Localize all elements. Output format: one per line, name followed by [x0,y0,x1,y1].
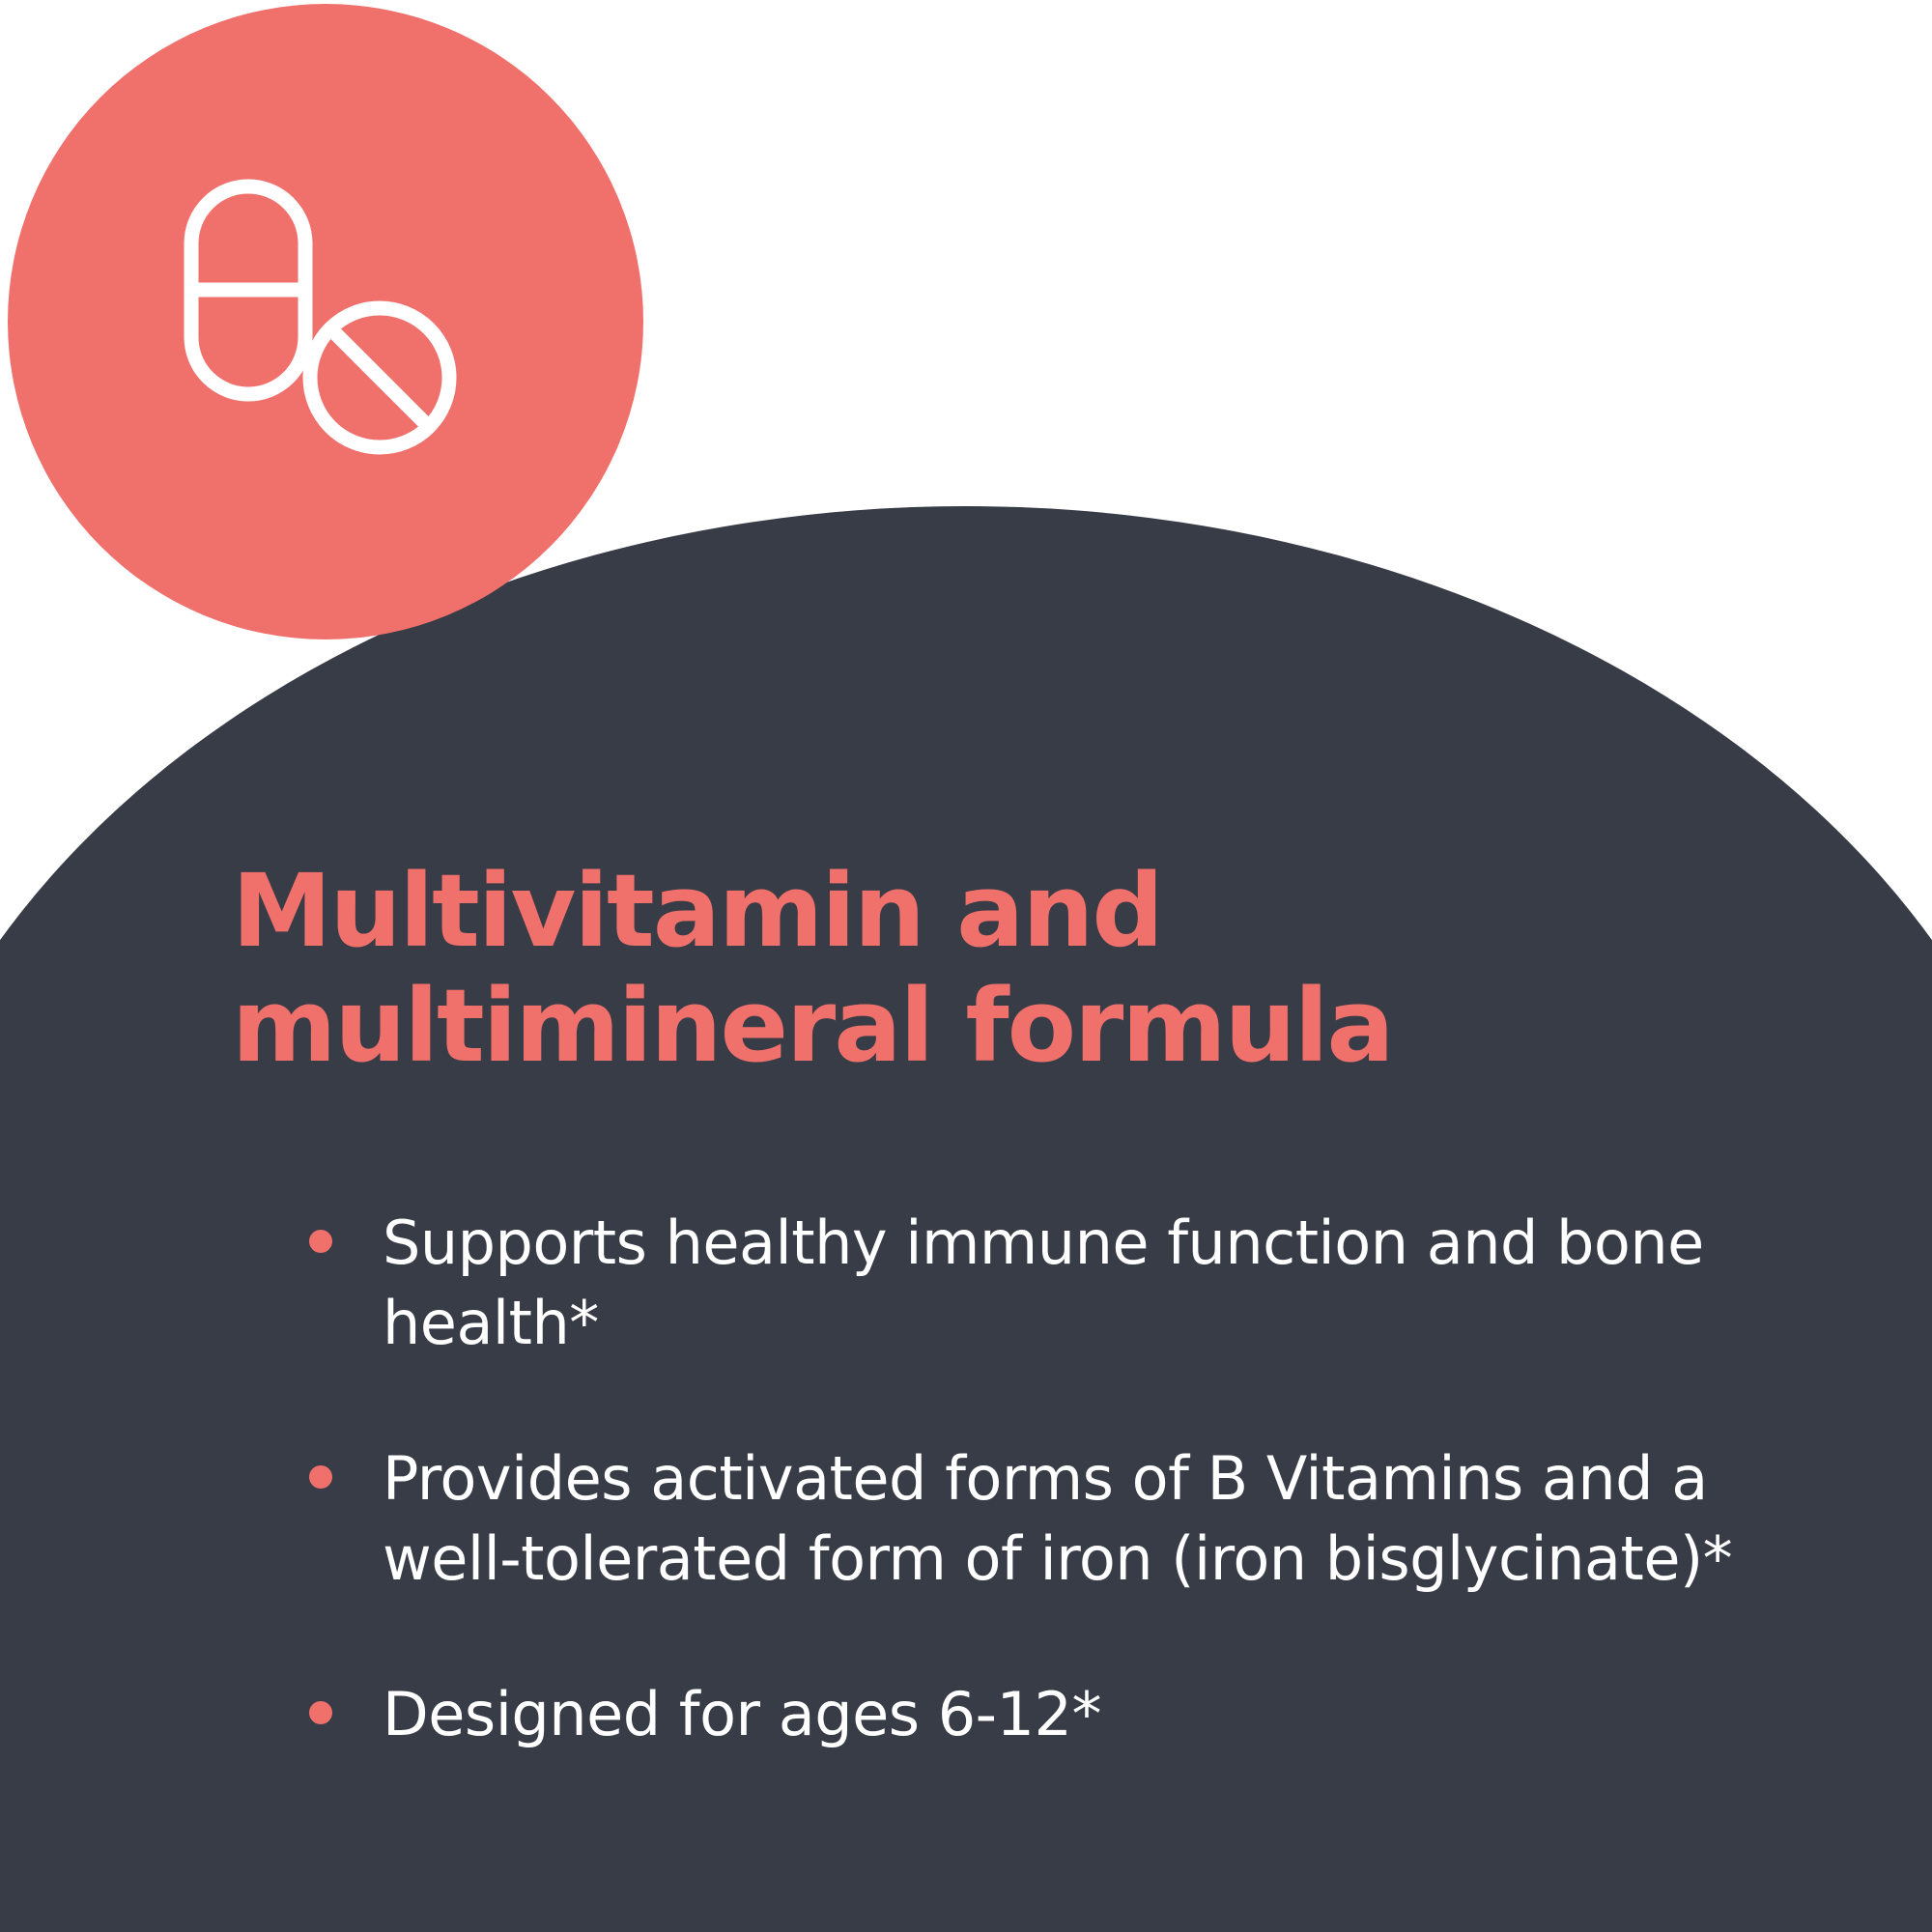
list-item-label: Designed for ages 6-12* [383,1679,1101,1749]
list-item: Designed for ages 6-12* [309,1674,1816,1754]
feature-bullet-list: Supports healthy immune function and bon… [232,1083,1816,1754]
list-item-label: Supports healthy immune function and bon… [383,1207,1704,1358]
bullet-dot-icon [309,1465,332,1489]
bullet-dot-icon [309,1701,332,1724]
pills-icon [176,179,466,469]
list-item-label: Provides activated forms of B Vitamins a… [383,1443,1732,1594]
page-title: Multivitamin andmultimineral formula [232,506,1488,1083]
page-title-line-1: Multivitamin and [232,852,1162,970]
bullet-dot-icon [309,1230,332,1253]
list-item: Provides activated forms of B Vitamins a… [309,1438,1816,1599]
product-feature-card: Multivitamin andmultimineral formula Sup… [0,0,1932,1932]
list-item: Supports healthy immune function and bon… [309,1203,1816,1363]
round-tablet-score-line [330,328,429,427]
page-title-line-2: multimineral formula [232,967,1393,1085]
card-content: Multivitamin andmultimineral formula Sup… [0,506,1932,1754]
